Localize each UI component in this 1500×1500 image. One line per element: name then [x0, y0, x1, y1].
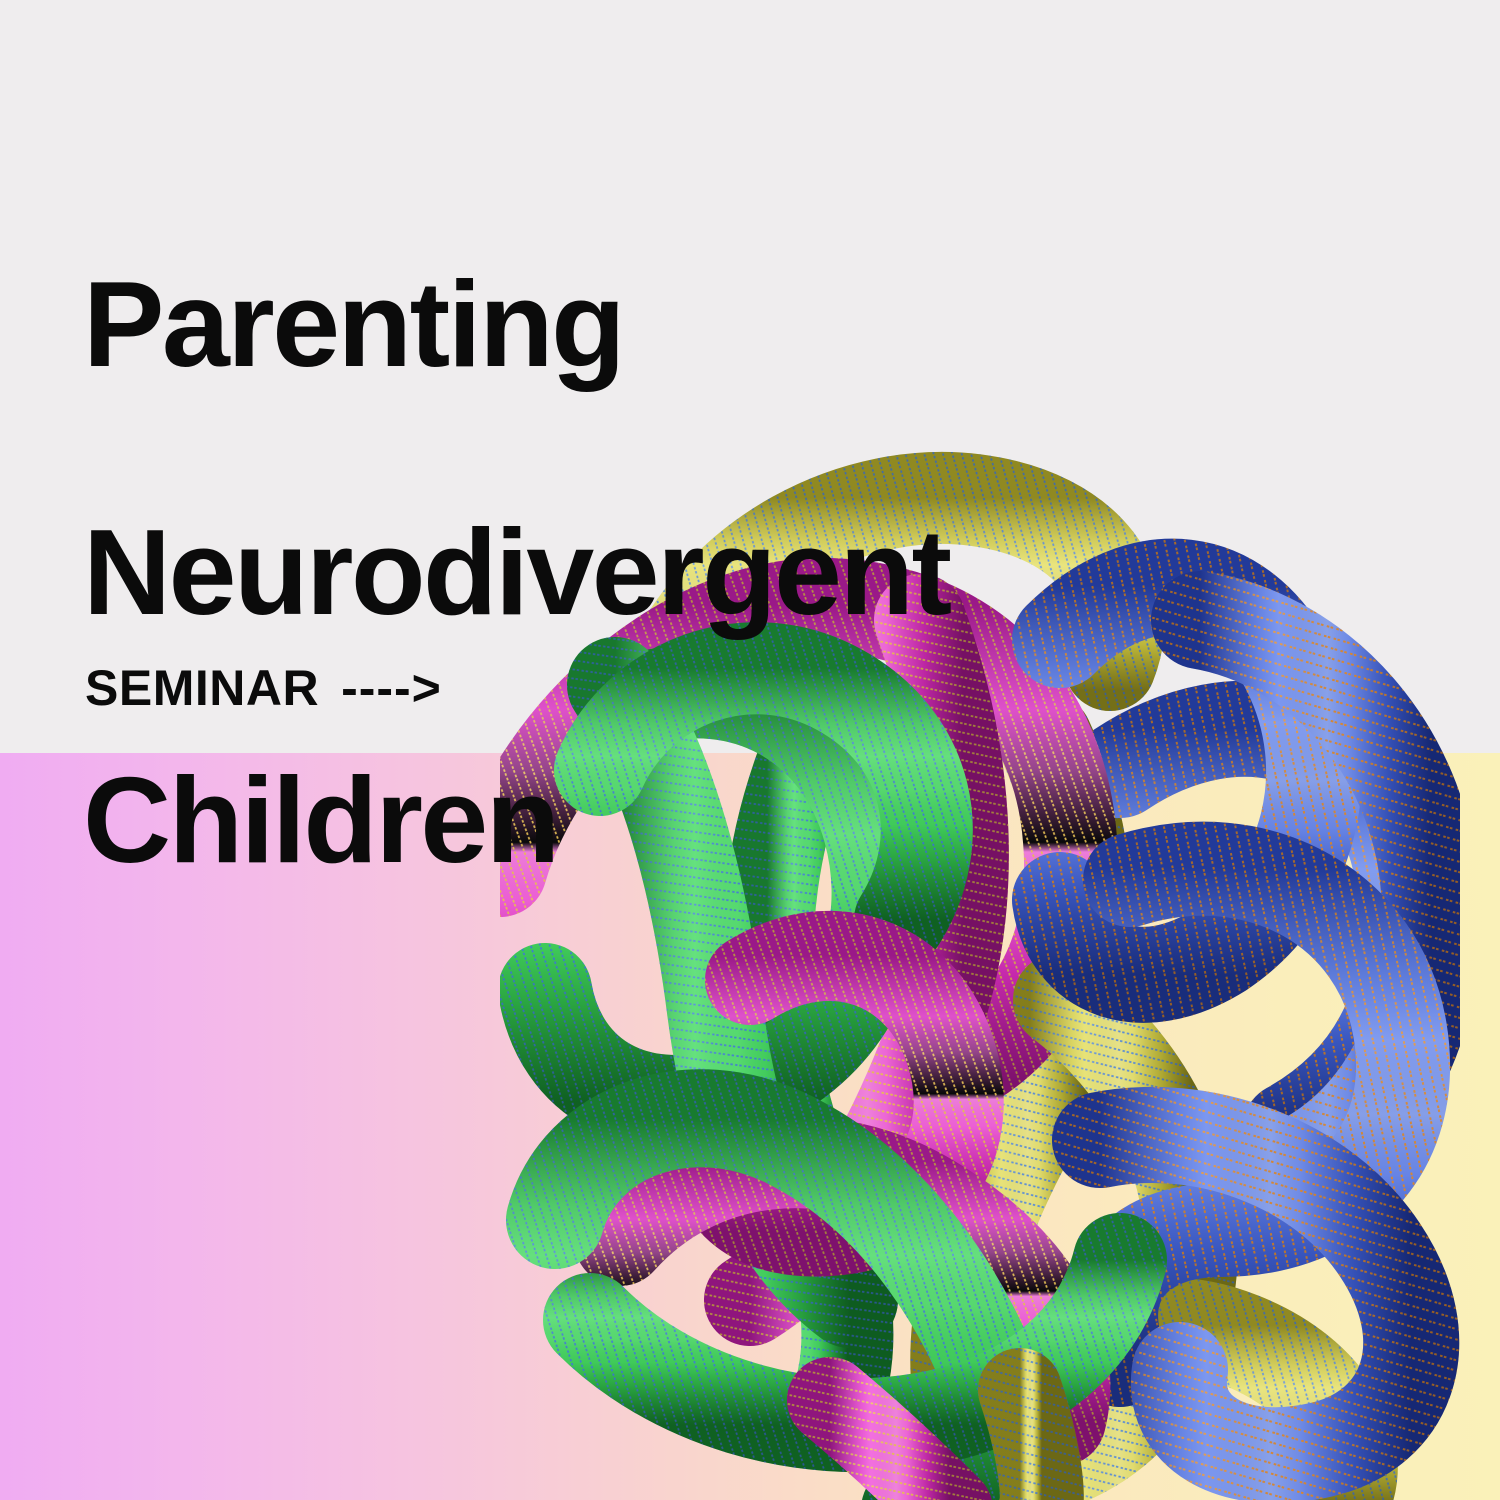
seminar-cta[interactable]: SEMINAR ---->: [85, 663, 442, 713]
knot-strand-yellow-bottom-tail: [1020, 1390, 1042, 1500]
poster-canvas: Parenting Neurodivergent Children SEMINA…: [0, 0, 1500, 1500]
page-title: Parenting Neurodivergent Children: [83, 138, 1083, 1006]
headline-line-1: Parenting: [83, 262, 1083, 386]
seminar-label: SEMINAR: [85, 663, 319, 713]
headline-line-2: Neurodivergent: [83, 510, 1083, 634]
arrow-right-icon: ---->: [341, 663, 442, 713]
headline-line-3: Children: [83, 758, 1083, 882]
